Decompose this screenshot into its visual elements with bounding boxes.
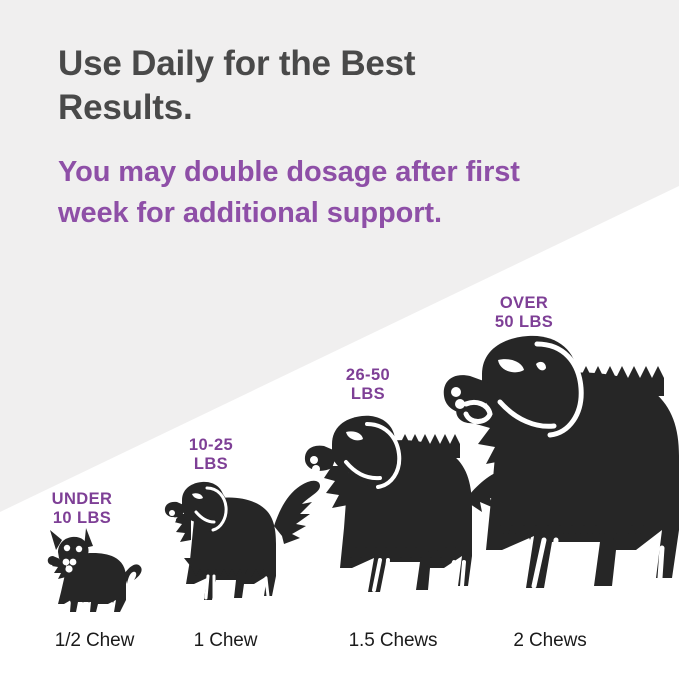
weight-label-26-50: 26-50 LBS — [309, 366, 427, 404]
small-dog-silhouette — [36, 526, 152, 620]
dose-label-two-chews: 2 Chews — [480, 630, 620, 652]
dose-label-one-chew: 1 Chew — [163, 630, 288, 652]
dose-label-half-chew: 1/2 Chew — [27, 630, 162, 652]
page-title: Use Daily for the Best Results. — [58, 42, 528, 130]
weight-label-over-50: OVER 50 LBS — [464, 294, 584, 332]
dose-label-one-point-five-chews: 1.5 Chews — [318, 630, 468, 652]
large-dog-silhouette — [440, 330, 679, 620]
weight-label-under-10: UNDER 10 LBS — [22, 490, 142, 528]
weight-label-10-25: 10-25 LBS — [152, 436, 270, 474]
dosage-infographic: Use Daily for the Best Results. You may … — [0, 0, 679, 679]
page-subtitle: You may double dosage after first week f… — [58, 152, 578, 234]
